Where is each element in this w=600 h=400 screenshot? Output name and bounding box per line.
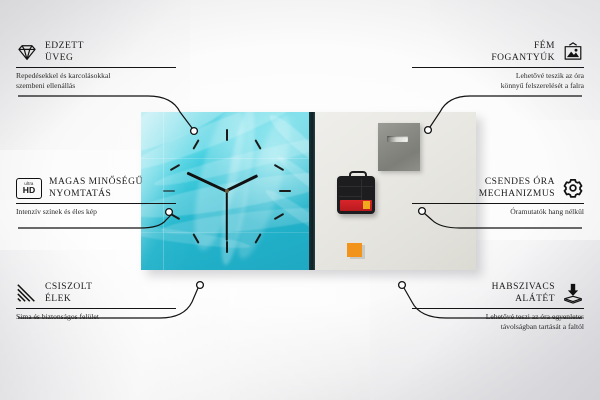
callout-title: HABSZIVACS ALÁTÉT: [492, 281, 555, 305]
callout-title: CSENDES ÓRA MECHANIZMUS: [479, 176, 555, 200]
callout-description: Lehetővé teszik az óra könnyű felszerelé…: [412, 71, 584, 91]
hanger-slot: [387, 136, 408, 142]
clock-tick-6: [226, 241, 228, 253]
battery-label: [340, 200, 372, 211]
callout-rule: [412, 67, 584, 68]
callout-rule: [412, 203, 584, 204]
callout-tempered-glass[interactable]: EDZETT ÜVEG Repedésekkel és karcolásokka…: [16, 40, 176, 91]
clock-tick-3: [279, 190, 291, 192]
diamond-icon: [16, 41, 38, 63]
metal-hanger-plate: [378, 123, 420, 171]
callout-title: FÉM FOGANTYÚK: [491, 40, 555, 64]
callout-head: FÉM FOGANTYÚK: [412, 40, 584, 64]
foam-spacer-pad: [347, 243, 362, 257]
mechanism-seam-1: [339, 186, 373, 187]
clock-center-cap: [225, 189, 229, 193]
polished-edges-icon: [16, 282, 38, 304]
callout-head: CSENDES ÓRA MECHANIZMUS: [412, 176, 584, 200]
callout-foam-pad[interactable]: HABSZIVACS ALÁTÉT Lehetővé teszi az óra …: [412, 281, 584, 332]
foam-pad-arrow-icon: [562, 282, 584, 304]
callout-description: Intenzív színek és éles kép: [16, 207, 176, 217]
callout-rule: [16, 203, 176, 204]
callout-head: ultra HD MAGAS MINŐSÉGŰ NYOMTATÁS: [16, 176, 176, 200]
clock-second-hand: [226, 191, 228, 241]
battery-plus-terminal: [363, 201, 370, 209]
clock-tick-12: [226, 129, 228, 141]
callout-head: EDZETT ÜVEG: [16, 40, 176, 64]
mechanism-seam-3: [361, 179, 362, 201]
callout-rule: [16, 67, 176, 68]
gear-icon: [562, 177, 584, 199]
callout-rule: [412, 308, 584, 309]
picture-hanger-icon: [562, 41, 584, 63]
callout-title: CSISZOLT ÉLEK: [45, 281, 92, 305]
infographic-canvas: EDZETT ÜVEG Repedésekkel és karcolásokka…: [0, 0, 600, 400]
callout-silent-mechanism[interactable]: CSENDES ÓRA MECHANIZMUS Óramutatók hang …: [412, 176, 584, 217]
callout-high-quality-print[interactable]: ultra HD MAGAS MINŐSÉGŰ NYOMTATÁS Intenz…: [16, 176, 176, 217]
mechanism-seam-2: [339, 196, 361, 197]
callout-head: CSISZOLT ÉLEK: [16, 281, 176, 305]
callout-rule: [16, 308, 176, 309]
callout-polished-edges[interactable]: CSISZOLT ÉLEK Sima és biztonságos felüle…: [16, 281, 176, 322]
ultra-hd-icon: ultra HD: [16, 178, 42, 199]
callout-description: Sima és biztonságos felület: [16, 312, 176, 322]
callout-description: Lehetővé teszi az óra egyenletes távolsá…: [412, 312, 584, 332]
callout-metal-hangers[interactable]: FÉM FOGANTYÚK Lehetővé teszik az óra kön…: [412, 40, 584, 91]
callout-description: Repedésekkel és karcolásokkal szembeni e…: [16, 71, 176, 91]
mechanism-hook: [349, 171, 367, 180]
ultra-hd-icon-big-label: HD: [23, 186, 35, 195]
callout-head: HABSZIVACS ALÁTÉT: [412, 281, 584, 305]
callout-description: Óramutatók hang nélkül: [412, 207, 584, 217]
quartz-clock-mechanism: [337, 176, 375, 214]
callout-title: MAGAS MINŐSÉGŰ NYOMTATÁS: [49, 176, 143, 200]
callout-title: EDZETT ÜVEG: [45, 40, 84, 64]
